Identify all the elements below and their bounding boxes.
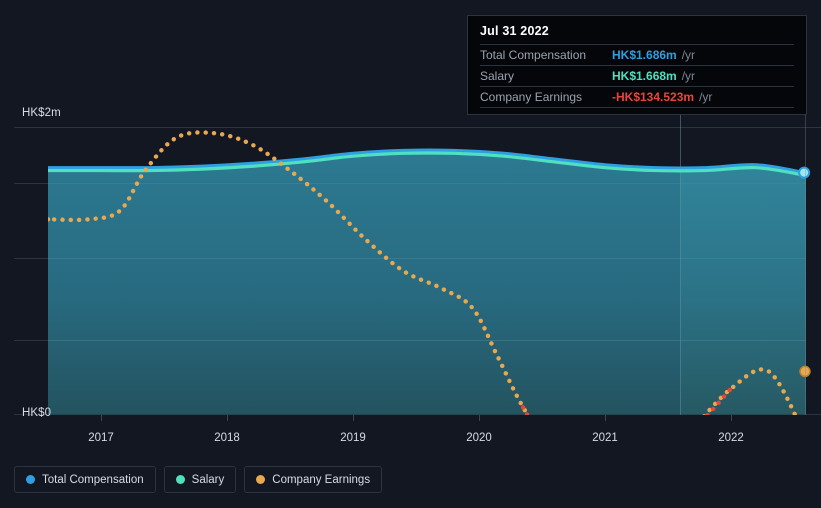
legend-dot-icon-total-compensation [26,475,35,484]
y-axis-label-bottom: HK$0 [22,407,51,419]
chart-screenshot: HK$2m HK$0 2017 2018 2019 2020 2021 2022… [0,0,821,508]
x-axis-label-2020: 2020 [466,432,492,444]
marker-total-compensation [799,168,809,178]
tooltip-value-total-compensation: HK$1.686m [612,48,677,62]
tooltip-unit-salary: /yr [682,69,695,83]
y-axis-label-top: HK$2m [22,107,61,119]
tooltip-unit-company-earnings: /yr [699,90,712,104]
legend-item-total-compensation[interactable]: Total Compensation [14,466,156,493]
x-axis-label-2019: 2019 [340,432,366,444]
tooltip-value-company-earnings: -HK$134.523m [612,90,694,104]
tooltip-label-company-earnings: Company Earnings [480,90,612,104]
chart-tooltip: Jul 31 2022 Total Compensation HK$1.686m… [467,15,807,115]
legend-item-company-earnings[interactable]: Company Earnings [244,466,382,493]
legend-label-company-earnings: Company Earnings [272,474,370,486]
tooltip-unit-total-compensation: /yr [682,48,695,62]
legend-dot-icon-company-earnings [256,475,265,484]
x-axis-label-2017: 2017 [88,432,114,444]
legend-item-salary[interactable]: Salary [164,466,237,493]
tooltip-label-salary: Salary [480,69,612,83]
tooltip-label-total-compensation: Total Compensation [480,48,612,62]
x-axis-label-2022: 2022 [718,432,744,444]
legend-label-total-compensation: Total Compensation [42,474,144,486]
tooltip-date: Jul 31 2022 [480,24,794,44]
x-axis-label-2021: 2021 [592,432,618,444]
legend-label-salary: Salary [192,474,225,486]
tooltip-row-salary: Salary HK$1.668m /yr [480,65,794,86]
tooltip-value-salary: HK$1.668m [612,69,677,83]
legend-dot-icon-salary [176,475,185,484]
tooltip-row-total-compensation: Total Compensation HK$1.686m /yr [480,44,794,65]
tooltip-row-company-earnings: Company Earnings -HK$134.523m /yr [480,86,794,108]
chart-legend: Total Compensation Salary Company Earnin… [14,466,382,493]
x-axis-ticks [102,415,732,421]
x-axis-label-2018: 2018 [214,432,240,444]
